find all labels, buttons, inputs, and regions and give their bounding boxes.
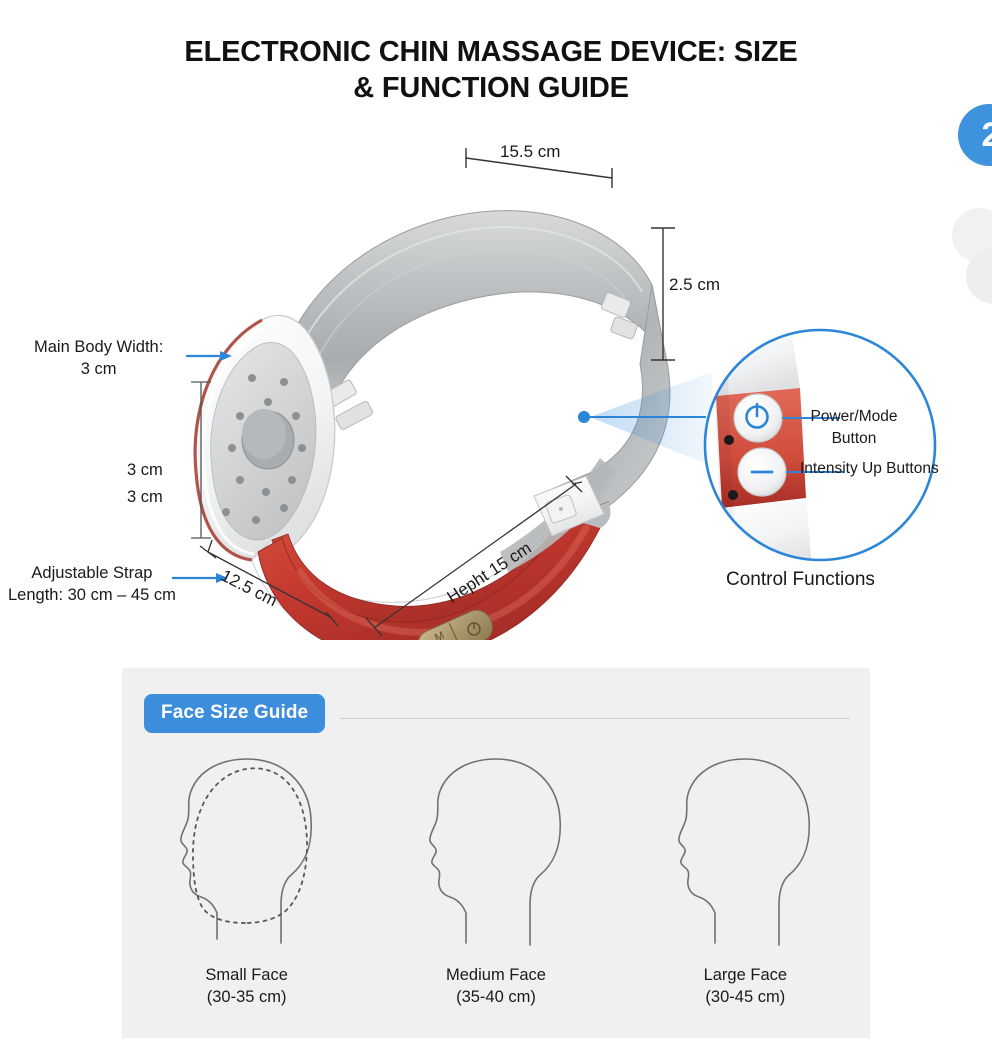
face-silhouette-large-wrap bbox=[655, 750, 835, 950]
head-silhouette-icon bbox=[655, 753, 835, 948]
infographic-page: ELECTRONIC CHIN MASSAGE DEVICE: SIZE & F… bbox=[0, 0, 992, 1056]
face-name-medium: Medium Face bbox=[446, 964, 546, 986]
face-card-medium: Medium Face (35-40 cm) bbox=[377, 750, 615, 1009]
label-main-body-width-line2: 3 cm bbox=[34, 359, 163, 381]
face-label-medium: Medium Face (35-40 cm) bbox=[446, 964, 546, 1009]
face-range-medium: (35-40 cm) bbox=[446, 986, 546, 1008]
label-power-mode-button: Power/Mode Button bbox=[802, 406, 906, 451]
label-adjustable-strap-line2: Length: 30 cm – 45 cm bbox=[8, 585, 176, 607]
label-control-functions: Control Functions bbox=[726, 567, 875, 592]
face-size-guide-panel: Face Size Guide Small Face (30-35 cm) bbox=[122, 668, 870, 1038]
head-silhouette-icon bbox=[157, 753, 337, 948]
label-power-mode-line1: Power/Mode bbox=[802, 406, 906, 428]
label-adjustable-strap: Adjustable Strap Length: 30 cm – 45 cm bbox=[8, 563, 176, 607]
callout-anchor-dot bbox=[578, 411, 590, 423]
label-dimension-3cm-upper: 3 cm bbox=[127, 460, 163, 482]
page-title: ELECTRONIC CHIN MASSAGE DEVICE: SIZE & F… bbox=[96, 34, 886, 107]
face-card-large: Large Face (30-45 cm) bbox=[626, 750, 864, 1009]
page-title-line-1: ELECTRONIC CHIN MASSAGE DEVICE: SIZE bbox=[96, 34, 886, 70]
face-silhouette-medium-wrap bbox=[406, 750, 586, 950]
head-silhouette-icon bbox=[406, 753, 586, 948]
face-size-guide-badge: Face Size Guide bbox=[144, 694, 325, 733]
face-name-large: Large Face bbox=[704, 964, 787, 986]
page-title-line-2: & FUNCTION GUIDE bbox=[96, 70, 886, 106]
face-size-guide-divider bbox=[340, 718, 850, 719]
face-name-small: Small Face bbox=[205, 964, 288, 986]
label-main-body-width: Main Body Width: 3 cm bbox=[34, 337, 163, 381]
device-left-pad bbox=[195, 315, 335, 560]
face-range-small: (30-35 cm) bbox=[205, 986, 288, 1008]
intensity-up-button[interactable] bbox=[738, 448, 786, 496]
face-size-list: Small Face (30-35 cm) Medium Face (35-40… bbox=[122, 750, 870, 1009]
indicator-dot-top bbox=[724, 435, 734, 445]
label-dimension-strap-width: 15.5 cm bbox=[500, 141, 560, 163]
face-label-large: Large Face (30-45 cm) bbox=[704, 964, 787, 1009]
face-range-large: (30-45 cm) bbox=[704, 986, 787, 1008]
power-mode-button[interactable] bbox=[734, 394, 782, 442]
label-main-body-width-line1: Main Body Width: bbox=[34, 337, 163, 359]
label-power-mode-line2: Button bbox=[802, 428, 906, 450]
face-card-small: Small Face (30-35 cm) bbox=[128, 750, 366, 1009]
label-dimension-3cm-lower: 3 cm bbox=[127, 487, 163, 509]
face-label-small: Small Face (30-35 cm) bbox=[205, 964, 288, 1009]
face-silhouette-small-wrap bbox=[157, 750, 337, 950]
label-intensity-up-buttons: Intensity Up Buttons bbox=[800, 459, 939, 479]
label-adjustable-strap-line1: Adjustable Strap bbox=[8, 563, 176, 585]
indicator-dot-bottom bbox=[728, 490, 738, 500]
label-dimension-strap-thickness: 2.5 cm bbox=[669, 274, 720, 296]
